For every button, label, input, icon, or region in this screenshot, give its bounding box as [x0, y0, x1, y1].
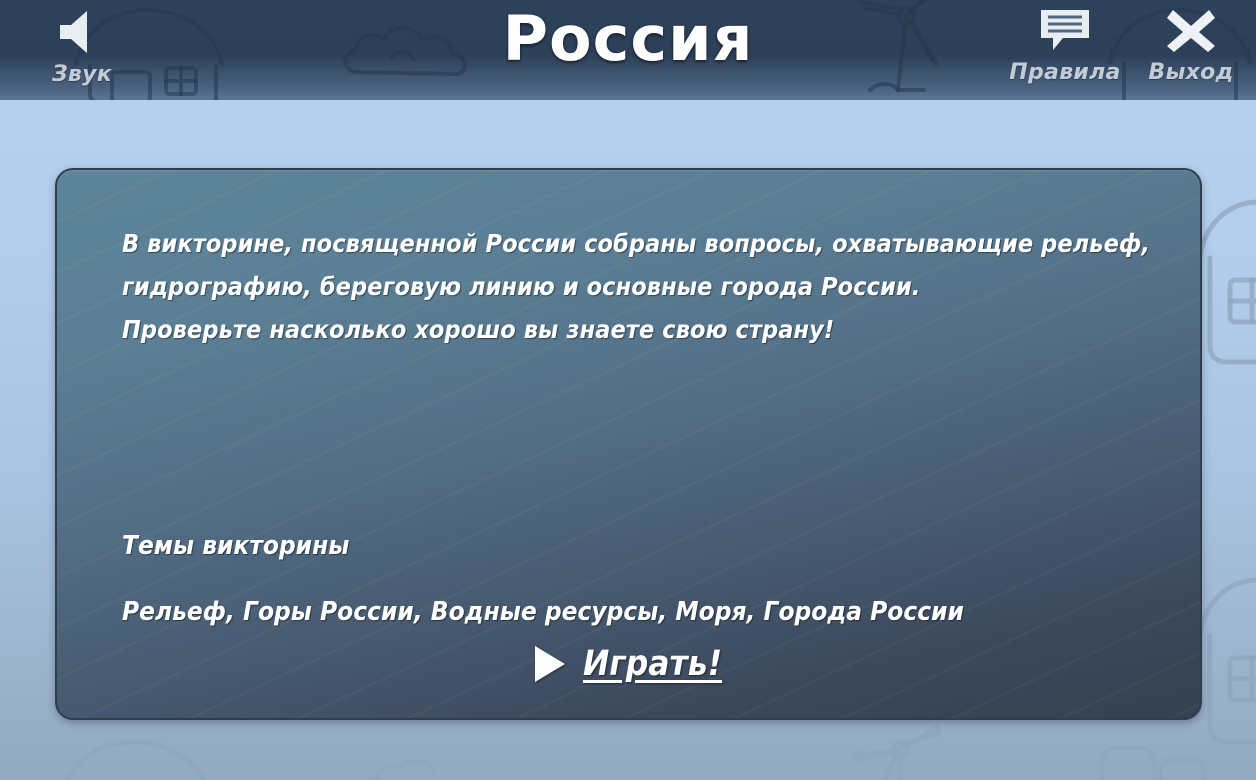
speech-bubble-icon	[1037, 6, 1093, 54]
rounded-shape-doodle-bottom-right	[1096, 742, 1226, 780]
topics-heading: Темы викторины	[122, 531, 1200, 561]
top-header-bar: Россия Звук Правила Выход	[0, 0, 1256, 100]
close-x-icon	[1163, 6, 1219, 54]
intro-text: В викторине, посвященной России собраны …	[122, 222, 1122, 351]
house-doodle-right-lower	[1196, 576, 1256, 776]
play-label: Играть!	[583, 644, 722, 684]
exit-button[interactable]: Выход	[1132, 6, 1250, 84]
sound-button[interactable]: Звук	[28, 8, 136, 86]
house-roof-doodle-bottom-left	[60, 736, 260, 780]
house-doodle-right-upper	[1196, 196, 1256, 386]
windmill-doodle-bottom	[840, 726, 970, 780]
exit-label: Выход	[1148, 62, 1233, 84]
rules-label: Правила	[1009, 62, 1120, 84]
speaker-icon	[54, 8, 110, 56]
intro-line-1: В викторине, посвященной России собраны …	[122, 222, 1122, 265]
play-button[interactable]: Играть!	[57, 644, 1200, 684]
intro-panel: В викторине, посвященной России собраны …	[55, 168, 1202, 720]
sound-label: Звук	[52, 64, 112, 86]
topics-list: Рельеф, Горы России, Водные ресурсы, Мор…	[122, 597, 1200, 627]
intro-line-2: гидрографию, береговую линию и основные …	[122, 265, 1122, 308]
rules-button[interactable]: Правила	[1002, 6, 1128, 84]
cloud-doodle-bottom-left	[372, 760, 492, 780]
intro-line-3: Проверьте насколько хорошо вы знаете сво…	[122, 308, 1122, 351]
play-triangle-icon	[535, 646, 565, 682]
